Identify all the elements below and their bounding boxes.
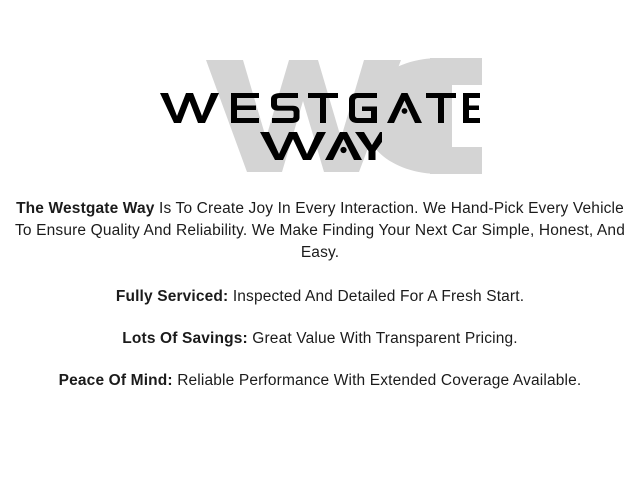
benefit-peace-of-mind-text: Reliable Performance With Extended Cover… — [173, 372, 582, 389]
brand-wordmark-westgate — [158, 90, 482, 126]
benefit-fully-serviced-text: Inspected And Detailed For A Fresh Start… — [228, 288, 524, 305]
benefit-fully-serviced: Fully Serviced: Inspected And Detailed F… — [14, 286, 626, 308]
brand-wordmarks — [0, 46, 640, 178]
benefit-lots-of-savings-label: Lots Of Savings: — [122, 330, 248, 347]
benefit-peace-of-mind: Peace Of Mind: Reliable Performance With… — [14, 370, 626, 392]
westgate-way-copy: The Westgate Way Is To Create Joy In Eve… — [14, 198, 626, 392]
brand-wordmark-way — [258, 130, 382, 162]
benefit-lots-of-savings-text: Great Value With Transparent Pricing. — [248, 330, 518, 347]
promo-card: The Westgate Way Is To Create Joy In Eve… — [0, 0, 640, 480]
benefit-peace-of-mind-label: Peace Of Mind: — [59, 372, 173, 389]
benefit-lots-of-savings: Lots Of Savings: Great Value With Transp… — [14, 328, 626, 350]
benefit-fully-serviced-label: Fully Serviced: — [116, 288, 229, 305]
lead-paragraph: The Westgate Way Is To Create Joy In Eve… — [14, 198, 626, 264]
brand-logo — [0, 46, 640, 178]
lead-bold: The Westgate Way — [16, 200, 155, 217]
